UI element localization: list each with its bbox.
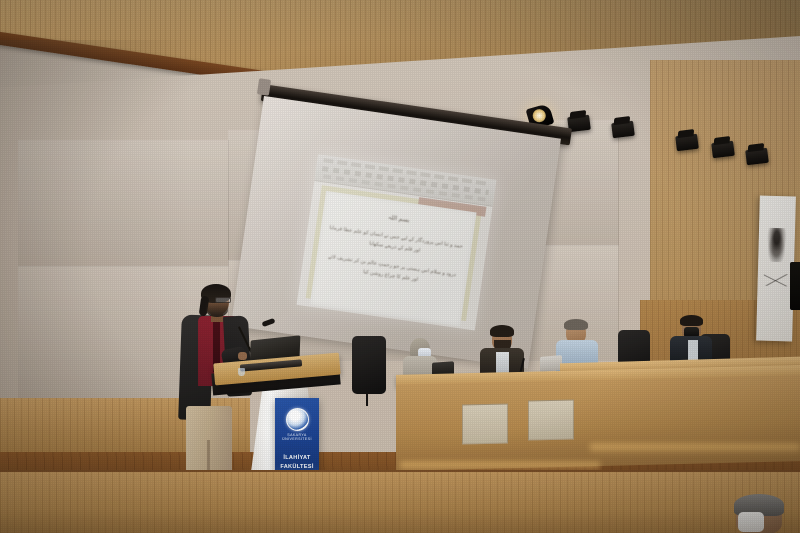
banner-faculty-line-1: İLAHİYAT: [275, 455, 319, 463]
portrait-icon: [765, 228, 788, 263]
chair-leg: [366, 392, 368, 406]
spotlight-icon: [611, 121, 635, 139]
slide-app-toolbar: [314, 154, 496, 206]
slide-border-frame: [306, 185, 483, 321]
face-mask-icon: [738, 512, 764, 532]
speaker-beard: [206, 303, 228, 317]
panelist-hair: [680, 315, 703, 326]
panelist-hair: [490, 325, 514, 337]
university-seal-icon: [286, 408, 309, 431]
banner-university-name: SAKARYA ÜNİVERSİTESİ: [275, 433, 319, 442]
panel-table-front: [396, 375, 800, 471]
slide-title: بسم اللہ: [331, 206, 467, 232]
table-inset-panel: [528, 399, 574, 440]
toolbar-row: [323, 158, 490, 186]
glasses-icon: [215, 297, 231, 303]
panelist-hair: [564, 319, 588, 330]
wall-shadow: [0, 40, 190, 460]
spotlight-icon: [745, 148, 769, 166]
speaker-hand: [238, 352, 247, 360]
slide-paragraph-2: درود و سلام اس ہستی پر جو رحمتِ عالم بن …: [323, 251, 461, 291]
slide-paragraph-1: حمد و ثنا اس پروردگار کے لیے جس نے انسان…: [327, 223, 465, 263]
text-highlight-band: [418, 197, 487, 217]
spotlight-icon: [711, 141, 735, 159]
toolbar-row: [323, 174, 486, 201]
conference-hall-photo: بسم اللہ حمد و ثنا اس پروردگار کے لیے جس…: [0, 0, 800, 533]
wall-speaker-icon: [790, 262, 800, 310]
toolbar-row: [322, 166, 489, 195]
spotlight-icon: [675, 134, 699, 152]
table-inset-panel: [462, 403, 508, 444]
office-chair[interactable]: [352, 336, 386, 394]
slide-document-page: بسم اللہ حمد و ثنا اس پروردگار کے لیے جس…: [310, 191, 477, 327]
table-uplight: [590, 444, 800, 454]
stage-front-edge: [0, 470, 800, 533]
laptop[interactable]: [540, 355, 562, 372]
water-glass: [238, 368, 245, 376]
projection-screen-mount: [257, 78, 271, 96]
signature-icon: [764, 274, 788, 287]
projected-slide: بسم اللہ حمد و ثنا اس پروردگار کے لیے جس…: [297, 154, 497, 330]
